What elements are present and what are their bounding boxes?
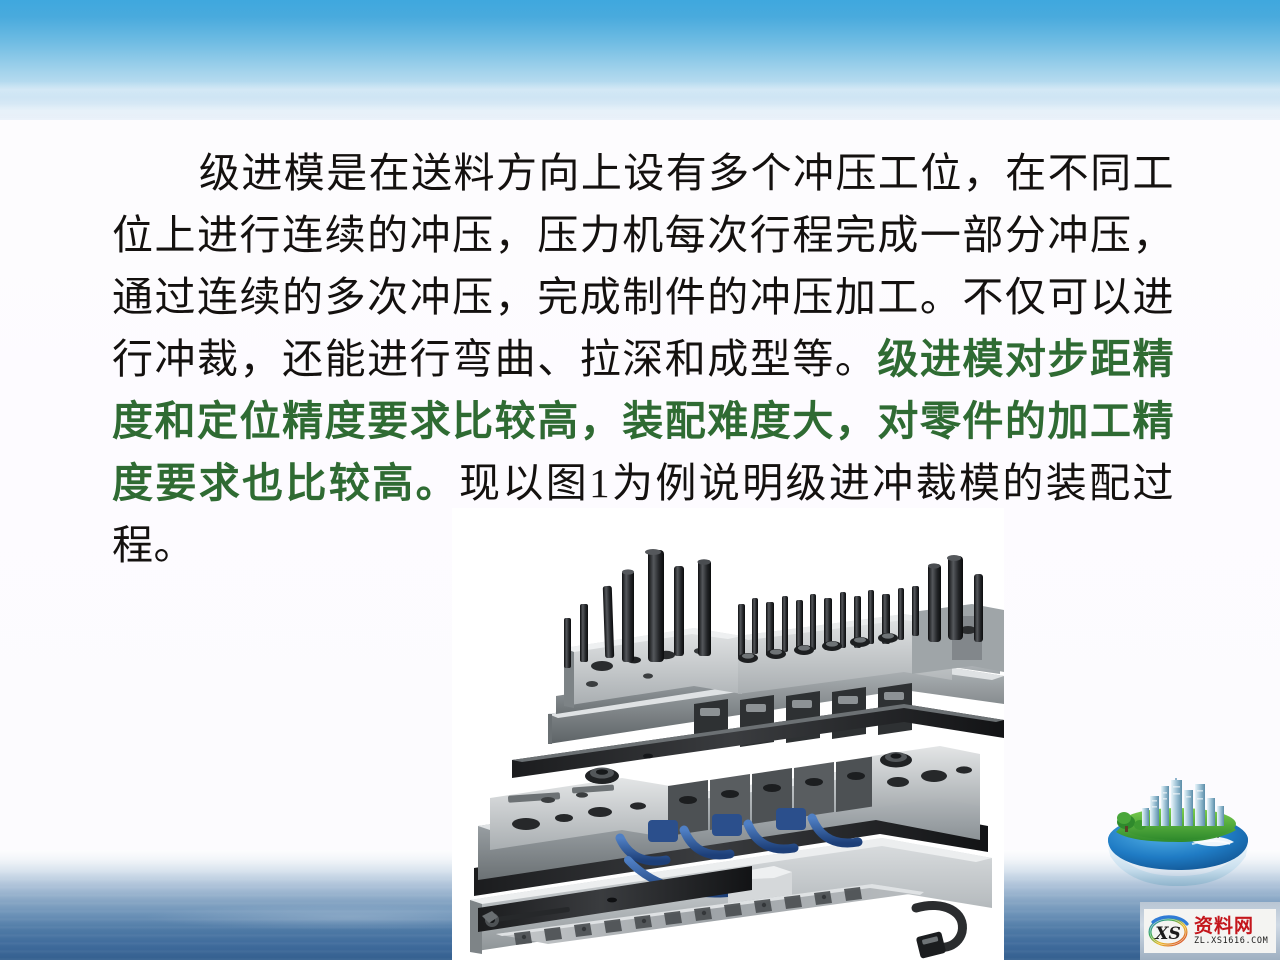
progressive-die-illustration bbox=[452, 508, 1004, 960]
watermark-text: 资料网 ZL.XS1616.COM bbox=[1194, 916, 1273, 947]
xs-logo-icon: XS bbox=[1147, 912, 1191, 950]
earth-city-globe-icon bbox=[1094, 778, 1262, 898]
site-watermark[interactable]: XS 资料网 ZL.XS1616.COM bbox=[1140, 902, 1280, 960]
globe-illustration bbox=[1094, 778, 1262, 898]
text-run-black-1: 级进模是在送料方向上设有多个冲压工位，在不同 bbox=[198, 150, 1133, 196]
text-run-green-1: 级进模 bbox=[877, 336, 1005, 382]
svg-text:XS: XS bbox=[1154, 924, 1180, 944]
watermark-brand: 资料网 bbox=[1194, 916, 1273, 936]
progressive-die-photo bbox=[452, 508, 1004, 960]
sky-cloud-streaks bbox=[0, 0, 1280, 140]
watermark-url: ZL.XS1616.COM bbox=[1194, 936, 1273, 947]
text-run-black-5: 现以图1为例说明级进冲裁 bbox=[459, 460, 959, 506]
slide-canvas: 级进模是在送料方向上设有多个冲压工位，在不同工位上进行连续的冲压，压力机每次行程… bbox=[0, 0, 1280, 960]
watermark-inner: XS 资料网 ZL.XS1616.COM bbox=[1144, 909, 1276, 953]
